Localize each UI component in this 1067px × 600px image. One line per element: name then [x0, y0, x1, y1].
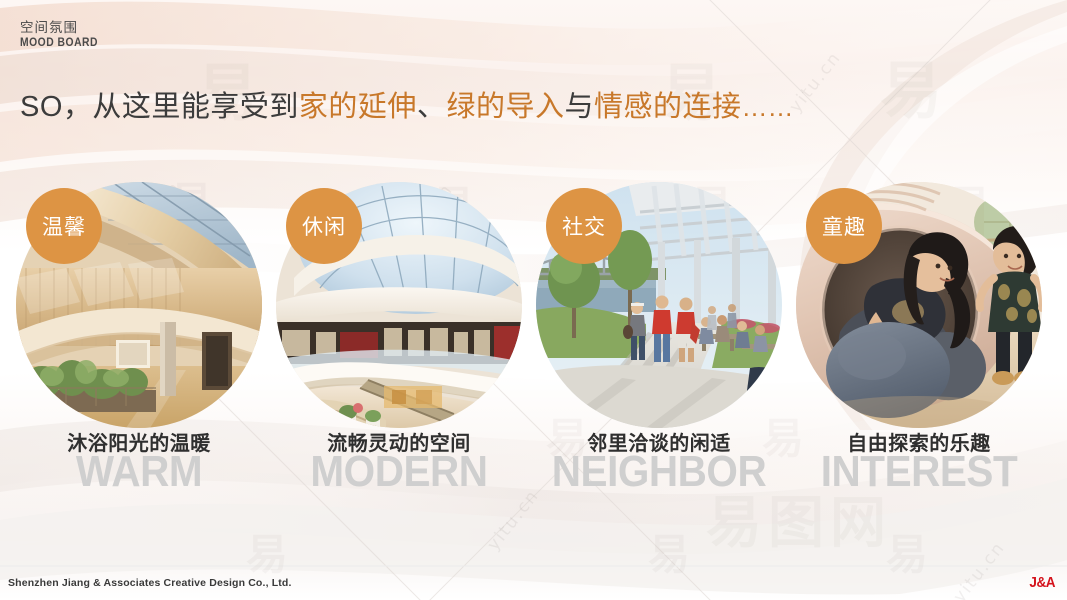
watermark-glyph: 易 — [648, 534, 690, 576]
mood-badge-label: 社交 — [562, 211, 606, 241]
watermark-diagonal: yitu.cn — [787, 49, 845, 116]
page-title: SO，从这里能享受到家的延伸、绿的导入与情感的连接…… — [20, 83, 793, 125]
header-title-cn: 空间氛围 — [20, 20, 111, 35]
mood-badge-warm[interactable]: 温馨 — [26, 188, 102, 264]
mood-caption-en: NEIGHBOR — [546, 450, 772, 494]
mood-badge-label: 温馨 — [42, 211, 86, 241]
mood-card[interactable]: 休闲 MODERN 流畅灵动的空间 — [276, 182, 522, 502]
mood-card[interactable]: 社交 NEIGHBOR 邻里洽谈的闲适 — [536, 182, 782, 502]
mood-caption-en: INTEREST — [806, 450, 1032, 494]
mood-caption-en: MODERN — [286, 450, 512, 494]
mood-caption-cn: 自由探索的乐趣 — [796, 427, 1042, 456]
mood-caption-en: WARM — [26, 450, 252, 494]
company-logo: J&A — [1030, 574, 1056, 591]
mood-badge-label: 童趣 — [822, 211, 866, 241]
headline-ellipsis: …… — [741, 92, 793, 122]
headline-segment-accent: 家的延伸 — [299, 91, 417, 123]
headline-segment-accent: 绿的导入 — [446, 91, 564, 123]
slide-header: 空间氛围 MOOD BOARD — [20, 20, 111, 50]
watermark-wordmark: 易图网 — [706, 496, 892, 552]
mood-card[interactable]: 童趣 INTEREST 自由探索的乐趣 — [796, 182, 1042, 502]
mood-caption-cn: 沐浴阳光的温暖 — [16, 427, 262, 456]
mood-caption-cn: 流畅灵动的空间 — [276, 427, 522, 456]
mood-badge-label: 休闲 — [302, 211, 346, 241]
mood-badge-fun[interactable]: 童趣 — [806, 188, 882, 264]
mood-card-row: 温馨 WARM 沐浴阳光的温暖 — [0, 182, 1067, 502]
mood-caption-cn: 邻里洽谈的闲适 — [536, 427, 782, 456]
watermark-glyph: 易 — [886, 534, 928, 576]
mood-card[interactable]: 温馨 WARM 沐浴阳光的温暖 — [16, 182, 262, 502]
headline-segment-accent: 情感的连接 — [594, 91, 742, 123]
headline-segment: SO，从这里能享受到 — [20, 91, 299, 123]
slide-canvas: 易 易 易 易 易 易 易 易 易 易 易 易 易 易图网 yitu.cn yi… — [0, 0, 1067, 600]
watermark-glyph: 易 — [880, 60, 942, 122]
footer-company-name: Shenzhen Jiang & Associates Creative Des… — [8, 577, 292, 589]
header-title-en: MOOD BOARD — [20, 36, 98, 49]
mood-badge-social[interactable]: 社交 — [546, 188, 622, 264]
watermark-diagonal: yitu.cn — [951, 539, 1009, 600]
headline-segment: 、 — [417, 91, 447, 123]
watermark-glyph: 易 — [246, 534, 288, 576]
mood-badge-leisure[interactable]: 休闲 — [286, 188, 362, 264]
headline-segment: 与 — [564, 91, 594, 123]
